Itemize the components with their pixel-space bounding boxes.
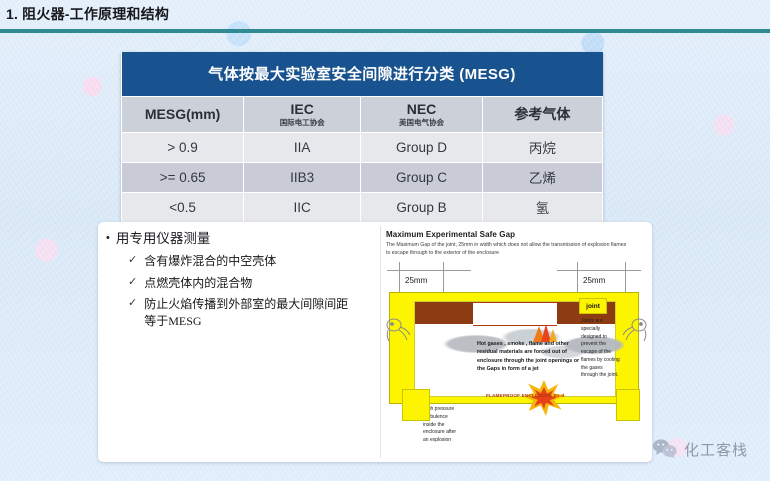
table-row: > 0.9 IIA Group D 丙烷 [122, 133, 603, 163]
cell-iec: IIC [244, 193, 361, 223]
dimension-label-right: 25mm [583, 276, 605, 285]
check-icon: ✓ [128, 275, 137, 291]
column-header-nec-sub: 美国电气协会 [363, 118, 480, 127]
diagram-text-right: Joints are specially designed to prevent… [581, 318, 621, 380]
cell-gas: 丙烷 [482, 133, 602, 163]
dimension-label-left: 25mm [405, 276, 427, 285]
list-item-label: 含有爆炸混合的中空壳体 [144, 253, 276, 270]
check-icon: ✓ [128, 296, 137, 312]
bullet-main-label: 用专用仪器测量 [116, 230, 211, 248]
enclosure-gap [473, 302, 557, 326]
cell-iec: IIB3 [244, 163, 361, 193]
bullet-sublist: ✓ 含有爆炸混合的中空壳体 ✓ 点燃壳体内的混合物 ✓ 防止火焰传播到外部室的最… [128, 253, 356, 331]
list-item-label: 点燃壳体内的混合物 [144, 275, 252, 292]
check-icon: ✓ [128, 253, 137, 269]
table-caption: 气体按最大实验室安全间隙进行分类 (MESG) [122, 52, 603, 97]
title-divider [0, 29, 770, 33]
column-header-iec: IEC 国际电工协会 [244, 97, 361, 133]
dimension-tick [625, 262, 626, 292]
list-item: ✓ 含有爆炸混合的中空壳体 [128, 253, 356, 270]
table-row: <0.5 IIC Group B 氢 [122, 193, 603, 223]
cell-gas: 乙烯 [482, 163, 602, 193]
column-header-iec-sub: 国际电工协会 [246, 118, 358, 127]
table-header-row: MESG(mm) IEC 国际电工协会 NEC 美国电气协会 参考气体 [122, 97, 603, 133]
diagram-text-center: Hot gases , smoke , flame and other resi… [477, 340, 587, 374]
enclosure-pad-left [402, 389, 430, 421]
table-row: >= 0.65 IIB3 Group C 乙烯 [122, 163, 603, 193]
column-header-gas: 参考气体 [482, 97, 602, 133]
enclosure-wall-left [415, 302, 473, 324]
worker-figure-right-icon [617, 314, 651, 344]
list-item: ✓ 点燃壳体内的混合物 [128, 275, 356, 292]
column-header-gas-main: 参考气体 [485, 104, 600, 125]
watermark-label: 化工客栈 [684, 439, 748, 460]
column-header-mesg: MESG(mm) [122, 97, 244, 133]
column-header-iec-main: IEC [246, 101, 358, 117]
content-panel: • 用专用仪器测量 ✓ 含有爆炸混合的中空壳体 ✓ 点燃壳体内的混合物 ✓ 防止… [98, 222, 652, 462]
enclosure-label-bottom: FLAMEPROOF ENCLOSURE Ex d [486, 393, 564, 398]
column-header-nec-main: NEC [363, 101, 480, 117]
page-title: 1. 阻火器-工作原理和结构 [6, 4, 169, 24]
watermark: 化工客栈 [652, 438, 748, 460]
dimension-tick [577, 262, 578, 292]
bullet-main: • 用专用仪器测量 [106, 230, 356, 248]
cell-iec: IIA [244, 133, 361, 163]
cell-mesg: <0.5 [122, 193, 244, 223]
cell-mesg: >= 0.65 [122, 163, 244, 193]
cell-gas: 氢 [482, 193, 602, 223]
cell-nec: Group C [361, 163, 483, 193]
mesg-classification-table: 气体按最大实验室安全间隙进行分类 (MESG) MESG(mm) IEC 国际电… [121, 52, 603, 223]
enclosure-pad-right [616, 389, 640, 421]
column-header-nec: NEC 美国电气协会 [361, 97, 483, 133]
list-item: ✓ 防止火焰传播到外部室的最大间隙间距等于MESG [128, 296, 356, 331]
cell-nec: Group D [361, 133, 483, 163]
diagram-title: Maximum Experimental Safe Gap [386, 230, 515, 239]
cell-nec: Group B [361, 193, 483, 223]
bullet-dot-icon: • [106, 230, 110, 247]
mesg-diagram: Maximum Experimental Safe Gap The Maximu… [380, 226, 649, 458]
dimension-line-right [557, 270, 641, 271]
cell-mesg: > 0.9 [122, 133, 244, 163]
list-item-label: 防止火焰传播到外部室的最大间隙间距等于MESG [144, 296, 356, 331]
wechat-icon [652, 438, 678, 460]
explosion-burst-icon [523, 380, 565, 416]
worker-figure-left-icon [383, 314, 417, 344]
dimension-tick [443, 262, 444, 292]
column-header-mesg-main: MESG(mm) [124, 106, 241, 122]
bullet-list: • 用专用仪器测量 ✓ 含有爆炸混合的中空壳体 ✓ 点燃壳体内的混合物 ✓ 防止… [106, 230, 356, 335]
diagram-subtitle: The Maximum Gap of the joint, 25mm in wi… [386, 242, 631, 258]
joint-label: joint [579, 298, 607, 314]
dimension-tick [399, 262, 400, 292]
